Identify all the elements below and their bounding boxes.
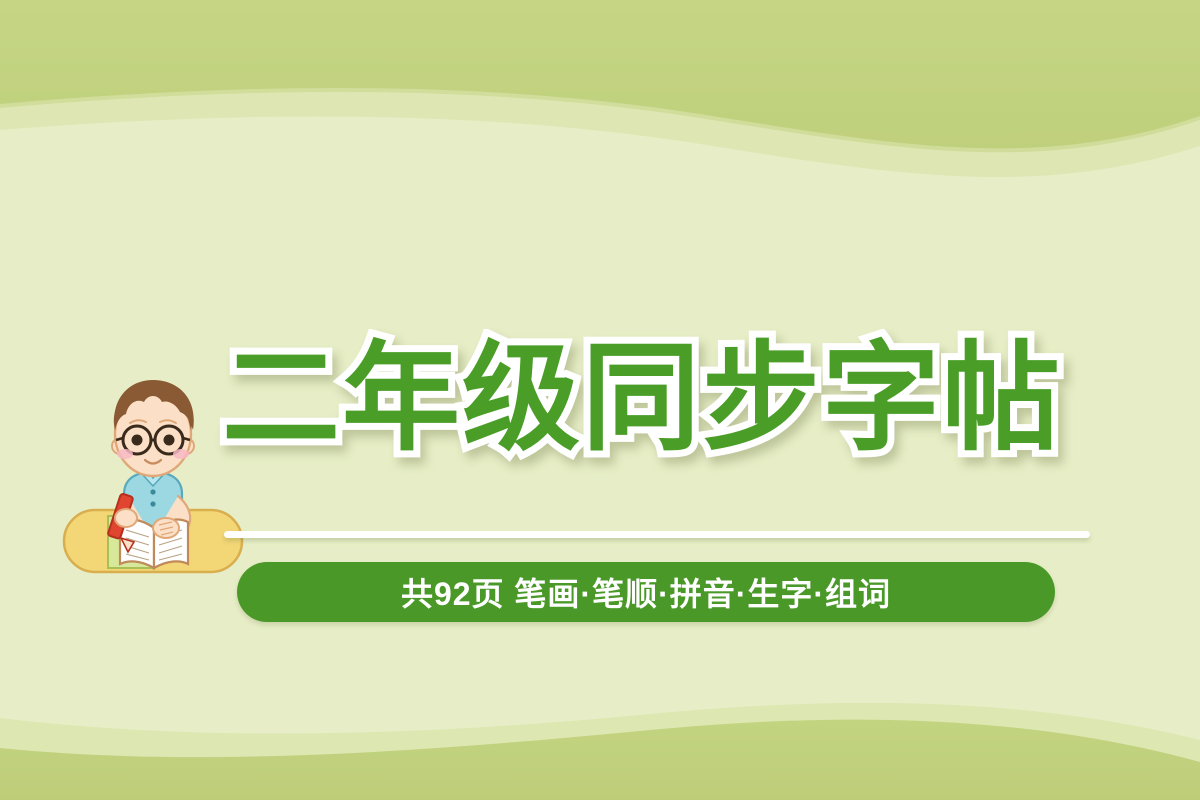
shirt-button — [150, 501, 155, 506]
left-hand — [115, 509, 137, 527]
right-hand — [153, 518, 179, 538]
cheek-right — [173, 449, 189, 459]
mascot-illustration — [58, 368, 248, 598]
cover-canvas: 二年级同步字帖 共92页 笔画·笔顺·拼音·生字·组词 — [0, 0, 1200, 800]
subtitle-text: 共92页 笔画·笔顺·拼音·生字·组词 — [401, 569, 891, 615]
cover-title: 二年级同步字帖 — [222, 340, 1122, 458]
title-divider — [224, 531, 1090, 538]
cheek-left — [117, 449, 133, 459]
eye-left — [132, 435, 143, 446]
eye-right — [164, 435, 175, 446]
title-block: 二年级同步字帖 — [222, 340, 1122, 458]
subtitle-pill: 共92页 笔画·笔顺·拼音·生字·组词 — [237, 562, 1055, 622]
shirt-button — [150, 489, 155, 494]
